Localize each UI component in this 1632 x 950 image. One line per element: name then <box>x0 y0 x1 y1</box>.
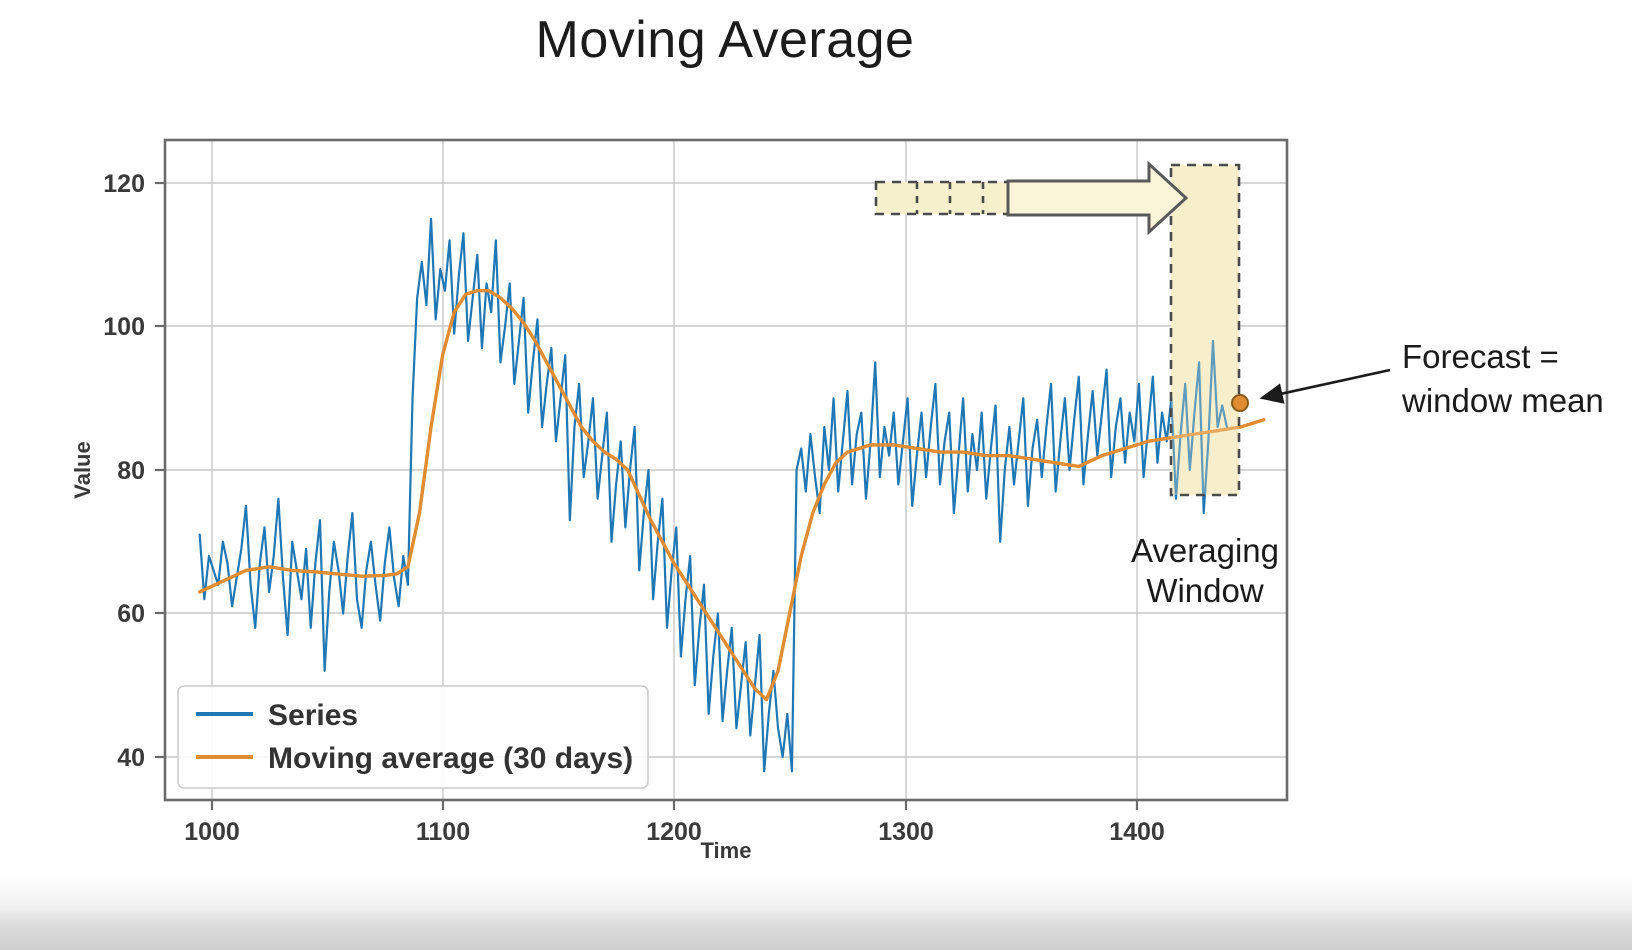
averaging-window-label-line2: Window <box>1146 572 1264 609</box>
sliding-window-ghosts <box>876 182 1008 214</box>
y-tick-label-100: 100 <box>103 313 145 341</box>
y-tick-label-80: 80 <box>117 457 145 485</box>
legend-label-moving-average: Moving average (30 days) <box>268 742 633 775</box>
chart-legend: Series Moving average (30 days) <box>178 686 648 788</box>
moving-average-chart: 120 100 80 60 40 1000 1100 1200 1300 140… <box>0 0 1632 950</box>
x-tick-label-1300: 1300 <box>878 818 934 846</box>
y-tick-label-40: 40 <box>117 744 145 772</box>
y-axis-ticks <box>155 183 165 757</box>
frame-bottom-band <box>0 874 1632 950</box>
forecast-point-marker <box>1232 395 1248 411</box>
x-tick-label-1400: 1400 <box>1109 818 1165 846</box>
y-tick-label-120: 120 <box>103 170 145 198</box>
forecast-label-line2: window mean <box>1401 382 1604 419</box>
y-axis-title: Value <box>70 441 95 498</box>
forecast-label-line1: Forecast = <box>1402 338 1559 375</box>
x-axis-ticks <box>212 800 1137 810</box>
x-tick-label-1200: 1200 <box>646 818 702 846</box>
y-tick-label-60: 60 <box>117 600 145 628</box>
x-tick-label-1100: 1100 <box>416 818 470 846</box>
legend-label-series: Series <box>268 699 358 732</box>
averaging-window-box <box>1171 165 1239 495</box>
x-tick-label-1000: 1000 <box>184 818 240 846</box>
averaging-window-label-line1: Averaging <box>1131 532 1279 569</box>
x-axis-title: Time <box>701 838 752 863</box>
slide-canvas: Moving Average <box>0 0 1632 950</box>
